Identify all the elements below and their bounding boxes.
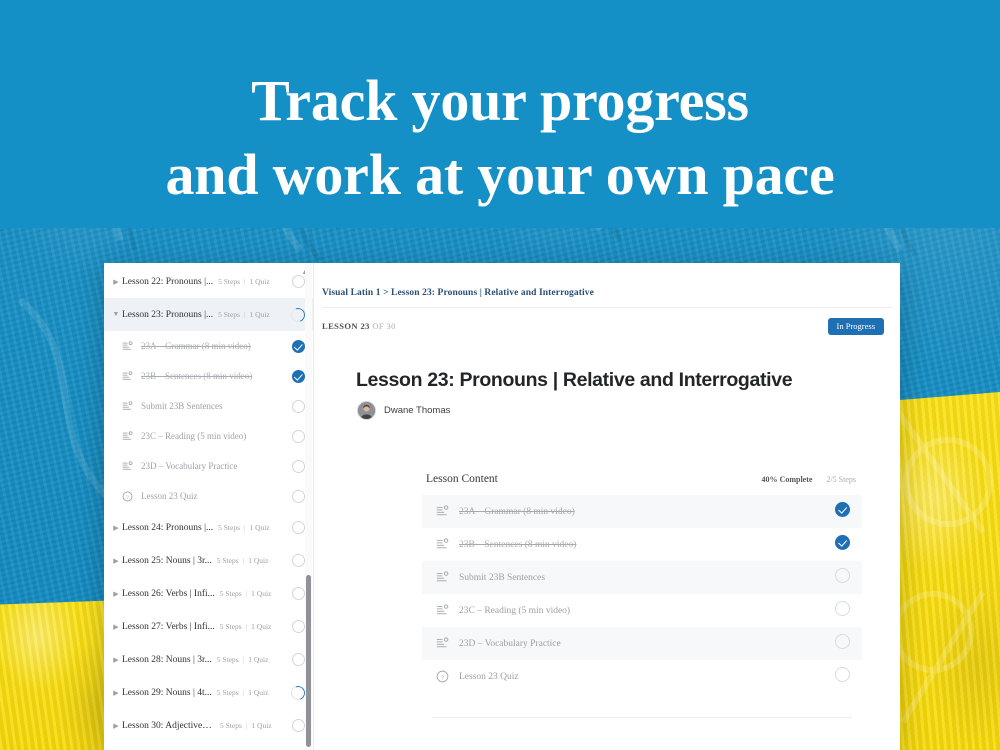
circle-empty-icon bbox=[292, 587, 305, 600]
check-circle-icon bbox=[292, 340, 305, 353]
sidebar-lesson-quiz: 1 Quiz bbox=[251, 622, 271, 631]
sidebar-item-lesson-24[interactable]: ▶ Lesson 24: Pronouns |... 5 Steps|1 Qui… bbox=[104, 511, 313, 544]
avatar bbox=[357, 401, 376, 420]
sidebar-lesson-meta: 5 Steps|1 Quiz bbox=[217, 688, 269, 697]
lesson-counter-total: OF 30 bbox=[372, 321, 396, 331]
sidebar-lesson-steps: 5 Steps bbox=[220, 589, 242, 598]
content-row-23b[interactable]: 23B – Sentences (8 min video) bbox=[422, 528, 862, 561]
caret-right-icon[interactable]: ▶ bbox=[110, 590, 122, 598]
sidebar-lesson-quiz: 1 Quiz bbox=[248, 556, 268, 565]
circle-empty-icon bbox=[292, 275, 305, 288]
status-badge[interactable]: In Progress bbox=[828, 318, 884, 335]
sidebar-lesson-title: Lesson 22: Pronouns |... bbox=[122, 277, 213, 287]
sidebar-lesson-meta: 5 Steps|1 Quiz bbox=[220, 622, 272, 631]
sidebar-lesson-title: Lesson 23: Pronouns |... bbox=[122, 310, 213, 320]
circle-empty-icon bbox=[292, 653, 305, 666]
svg-text:?: ? bbox=[126, 494, 129, 500]
quiz-icon: ? bbox=[436, 670, 449, 683]
sidebar-lesson-meta: 5 Steps|1 Quiz bbox=[217, 556, 269, 565]
circle-empty-icon bbox=[292, 719, 305, 732]
sidebar-item-lesson-30[interactable]: ▶ Lesson 30: Adjectives ... 5 Steps|1 Qu… bbox=[104, 709, 313, 742]
sidebar-lesson-steps: 5 Steps bbox=[218, 277, 240, 286]
sidebar-lesson-title: Lesson 28: Nouns | 3r... bbox=[122, 655, 212, 665]
status-progress bbox=[291, 686, 305, 700]
sidebar-lesson-quiz: 1 Quiz bbox=[250, 310, 270, 319]
caret-down-icon[interactable]: ▼ bbox=[110, 311, 122, 318]
lesson-content-heading: Lesson Content bbox=[426, 473, 498, 485]
sidebar-step-submit-23b[interactable]: Submit 23B Sentences bbox=[104, 391, 313, 421]
sidebar-lesson-quiz: 1 Quiz bbox=[251, 721, 271, 730]
sidebar-step-label: 23D – Vocabulary Practice bbox=[141, 461, 237, 471]
content-row-label: 23B – Sentences (8 min video) bbox=[459, 540, 576, 550]
circle-empty-icon bbox=[292, 521, 305, 534]
sidebar-lesson-title: Lesson 27: Verbs | Infi... bbox=[122, 622, 215, 632]
lesson-step-icon bbox=[436, 505, 449, 518]
hero-headline-line2: and work at your own pace bbox=[0, 138, 1000, 212]
content-row-lesson-23-quiz[interactable]: ? Lesson 23 Quiz bbox=[422, 660, 862, 693]
status-circle bbox=[292, 620, 305, 633]
hero-headline: Track your progress and work at your own… bbox=[0, 64, 1000, 212]
app-screenshot-card: ▲ ▶ Lesson 22: Pronouns |... 5 Steps|1 Q… bbox=[104, 263, 900, 750]
circle-empty-icon bbox=[292, 620, 305, 633]
content-row-label: Submit 23B Sentences bbox=[459, 573, 545, 583]
check-circle-icon bbox=[835, 535, 850, 550]
lesson-content-header: Lesson Content 40% Complete 2/5 Steps bbox=[422, 473, 862, 485]
status-circle bbox=[292, 587, 305, 600]
sidebar-meta-separator: | bbox=[243, 556, 245, 565]
sidebar-lesson-meta: 5 Steps|1 Quiz bbox=[220, 721, 272, 730]
sidebar-step-23c[interactable]: 23C – Reading (5 min video) bbox=[104, 421, 313, 451]
yellow-block-right bbox=[888, 392, 1000, 750]
sidebar-lesson-list: ▶ Lesson 22: Pronouns |... 5 Steps|1 Qui… bbox=[104, 263, 313, 742]
caret-right-icon[interactable]: ▶ bbox=[110, 524, 122, 532]
content-row-23c[interactable]: 23C – Reading (5 min video) bbox=[422, 594, 862, 627]
sidebar-step-23d[interactable]: 23D – Vocabulary Practice bbox=[104, 451, 313, 481]
status-progress bbox=[291, 308, 305, 322]
status-circle[interactable] bbox=[835, 601, 850, 621]
lesson-step-icon bbox=[436, 538, 449, 551]
status-circle[interactable] bbox=[835, 634, 850, 654]
author-name[interactable]: Dwane Thomas bbox=[384, 405, 450, 416]
sidebar-meta-separator: | bbox=[244, 277, 246, 286]
hero-headline-line1: Track your progress bbox=[251, 68, 749, 133]
sidebar-lesson-steps: 5 Steps bbox=[217, 688, 239, 697]
circle-empty-icon bbox=[835, 634, 850, 649]
status-circle bbox=[292, 719, 305, 732]
caret-right-icon[interactable]: ▶ bbox=[110, 722, 122, 730]
circle-empty-icon bbox=[835, 601, 850, 616]
status-circle bbox=[292, 653, 305, 666]
lesson-step-icon bbox=[122, 341, 133, 352]
lesson-step-icon bbox=[122, 431, 133, 442]
sidebar-lesson-title: Lesson 26: Verbs | Infi... bbox=[122, 589, 215, 599]
circle-empty-icon bbox=[835, 667, 850, 682]
sidebar-item-lesson-25[interactable]: ▶ Lesson 25: Nouns | 3r... 5 Steps|1 Qui… bbox=[104, 544, 313, 577]
sidebar-item-lesson-29[interactable]: ▶ Lesson 29: Nouns | 4t... 5 Steps|1 Qui… bbox=[104, 676, 313, 709]
promo-slide: Track your progress and work at your own… bbox=[0, 0, 1000, 750]
status-circle bbox=[292, 490, 305, 503]
caret-right-icon[interactable]: ▶ bbox=[110, 656, 122, 664]
lesson-step-icon bbox=[436, 571, 449, 584]
breadcrumb[interactable]: Visual Latin 1 > Lesson 23: Pronouns | R… bbox=[314, 263, 900, 298]
caret-right-icon[interactable]: ▶ bbox=[110, 278, 122, 286]
sidebar-step-label: 23B – Sentences (8 min video) bbox=[141, 371, 252, 381]
sidebar-lesson-quiz: 1 Quiz bbox=[248, 688, 268, 697]
lesson-meta-bar: LESSON 23 OF 30 In Progress bbox=[314, 308, 900, 335]
sidebar-step-label: 23C – Reading (5 min video) bbox=[141, 431, 246, 441]
circle-empty-icon bbox=[292, 490, 305, 503]
sidebar-meta-separator: | bbox=[246, 721, 248, 730]
lesson-step-icon bbox=[436, 604, 449, 617]
sidebar-lesson-steps: 5 Steps bbox=[218, 310, 240, 319]
sidebar-lesson-steps: 5 Steps bbox=[217, 556, 239, 565]
caret-right-icon[interactable]: ▶ bbox=[110, 623, 122, 631]
sidebar-meta-separator: | bbox=[246, 622, 248, 631]
sidebar-lesson-title: Lesson 24: Pronouns |... bbox=[122, 523, 213, 533]
sidebar-lesson-steps: 5 Steps bbox=[217, 655, 239, 664]
sidebar-step-label: 23A – Grammar (8 min video) bbox=[141, 341, 251, 351]
sidebar-step-23b[interactable]: 23B – Sentences (8 min video) bbox=[104, 361, 313, 391]
sidebar-lesson-meta: 5 Steps|1 Quiz bbox=[217, 655, 269, 664]
lesson-step-icon bbox=[122, 461, 133, 472]
sidebar-meta-separator: | bbox=[243, 655, 245, 664]
sidebar-scrollbar-thumb[interactable] bbox=[306, 575, 311, 747]
lesson-counter-current: LESSON 23 bbox=[322, 321, 370, 331]
sidebar-lesson-steps: 5 Steps bbox=[218, 523, 240, 532]
lesson-step-icon bbox=[122, 401, 133, 412]
content-row-label: 23C – Reading (5 min video) bbox=[459, 606, 570, 616]
status-complete bbox=[292, 340, 305, 353]
sidebar-lesson-meta: 5 Steps|1 Quiz bbox=[218, 310, 270, 319]
lesson-content-list: 23A – Grammar (8 min video) 23B – Senten… bbox=[422, 495, 862, 693]
sidebar-meta-separator: | bbox=[244, 310, 246, 319]
lesson-content-panel: Lesson Content 40% Complete 2/5 Steps 23… bbox=[422, 473, 862, 718]
course-sidebar[interactable]: ▲ ▶ Lesson 22: Pronouns |... 5 Steps|1 Q… bbox=[104, 263, 314, 750]
sidebar-step-lesson-23-quiz[interactable]: ? Lesson 23 Quiz bbox=[104, 481, 313, 511]
content-row-label: Lesson 23 Quiz bbox=[459, 672, 519, 682]
lesson-step-icon bbox=[436, 637, 449, 650]
sidebar-lesson-meta: 5 Steps|1 Quiz bbox=[220, 589, 272, 598]
sidebar-lesson-steps: 5 Steps bbox=[220, 622, 242, 631]
content-row-23a[interactable]: 23A – Grammar (8 min video) bbox=[422, 495, 862, 528]
lesson-counter: LESSON 23 OF 30 bbox=[322, 321, 396, 331]
sidebar-lesson-title: Lesson 25: Nouns | 3r... bbox=[122, 556, 212, 566]
circle-empty-icon bbox=[835, 568, 850, 583]
sidebar-step-23a[interactable]: 23A – Grammar (8 min video) bbox=[104, 331, 313, 361]
sidebar-meta-separator: | bbox=[243, 688, 245, 697]
status-circle bbox=[292, 554, 305, 567]
lesson-content-divider bbox=[432, 717, 852, 718]
sidebar-step-label: Lesson 23 Quiz bbox=[141, 491, 198, 501]
sidebar-item-lesson-28[interactable]: ▶ Lesson 28: Nouns | 3r... 5 Steps|1 Qui… bbox=[104, 643, 313, 676]
circle-empty-icon bbox=[292, 460, 305, 473]
content-row-23d[interactable]: 23D – Vocabulary Practice bbox=[422, 627, 862, 660]
sidebar-lesson-quiz: 1 Quiz bbox=[251, 589, 271, 598]
sidebar-scrollbar-track[interactable] bbox=[305, 263, 312, 750]
circle-empty-icon bbox=[292, 554, 305, 567]
lesson-step-icon bbox=[122, 371, 133, 382]
author-row: Dwane Thomas bbox=[357, 401, 900, 420]
page-title: Lesson 23: Pronouns | Relative and Inter… bbox=[356, 369, 900, 392]
sidebar-lesson-title: Lesson 30: Adjectives ... bbox=[122, 721, 215, 731]
status-complete[interactable] bbox=[835, 502, 850, 522]
status-circle bbox=[292, 521, 305, 534]
quiz-icon: ? bbox=[122, 491, 133, 502]
circle-empty-icon bbox=[292, 430, 305, 443]
steps-count: 2/5 Steps bbox=[826, 475, 856, 484]
sidebar-lesson-steps: 5 Steps bbox=[220, 721, 242, 730]
status-circle[interactable] bbox=[835, 568, 850, 588]
caret-right-icon[interactable]: ▶ bbox=[110, 557, 122, 565]
sidebar-meta-separator: | bbox=[244, 523, 246, 532]
content-row-label: 23D – Vocabulary Practice bbox=[459, 639, 561, 649]
sidebar-meta-separator: | bbox=[246, 589, 248, 598]
sidebar-lesson-quiz: 1 Quiz bbox=[250, 277, 270, 286]
lesson-main-panel: Visual Latin 1 > Lesson 23: Pronouns | R… bbox=[314, 263, 900, 750]
status-complete[interactable] bbox=[835, 535, 850, 555]
svg-text:?: ? bbox=[441, 674, 444, 681]
circle-empty-icon bbox=[292, 400, 305, 413]
status-circle[interactable] bbox=[835, 667, 850, 687]
sidebar-lesson-title: Lesson 29: Nouns | 4t... bbox=[122, 688, 212, 698]
status-circle bbox=[292, 400, 305, 413]
content-row-submit-23b[interactable]: Submit 23B Sentences bbox=[422, 561, 862, 594]
sidebar-lesson-meta: 5 Steps|1 Quiz bbox=[218, 523, 270, 532]
status-circle bbox=[292, 430, 305, 443]
status-circle bbox=[292, 460, 305, 473]
sidebar-lesson-meta: 5 Steps|1 Quiz bbox=[218, 277, 270, 286]
check-circle-icon bbox=[835, 502, 850, 517]
sidebar-item-lesson-27[interactable]: ▶ Lesson 27: Verbs | Infi... 5 Steps|1 Q… bbox=[104, 610, 313, 643]
sidebar-step-label: Submit 23B Sentences bbox=[141, 401, 223, 411]
status-circle bbox=[292, 275, 305, 288]
sidebar-item-lesson-23[interactable]: ▼ Lesson 23: Pronouns |... 5 Steps|1 Qui… bbox=[104, 298, 313, 331]
status-complete bbox=[292, 370, 305, 383]
sidebar-lesson-quiz: 1 Quiz bbox=[248, 655, 268, 664]
sidebar-lesson-quiz: 1 Quiz bbox=[250, 523, 270, 532]
check-circle-icon bbox=[292, 370, 305, 383]
percent-complete: 40% Complete bbox=[762, 475, 813, 484]
caret-right-icon[interactable]: ▶ bbox=[110, 689, 122, 697]
content-row-label: 23A – Grammar (8 min video) bbox=[459, 507, 575, 517]
sidebar-item-lesson-22[interactable]: ▶ Lesson 22: Pronouns |... 5 Steps|1 Qui… bbox=[104, 265, 313, 298]
sidebar-item-lesson-26[interactable]: ▶ Lesson 26: Verbs | Infi... 5 Steps|1 Q… bbox=[104, 577, 313, 610]
